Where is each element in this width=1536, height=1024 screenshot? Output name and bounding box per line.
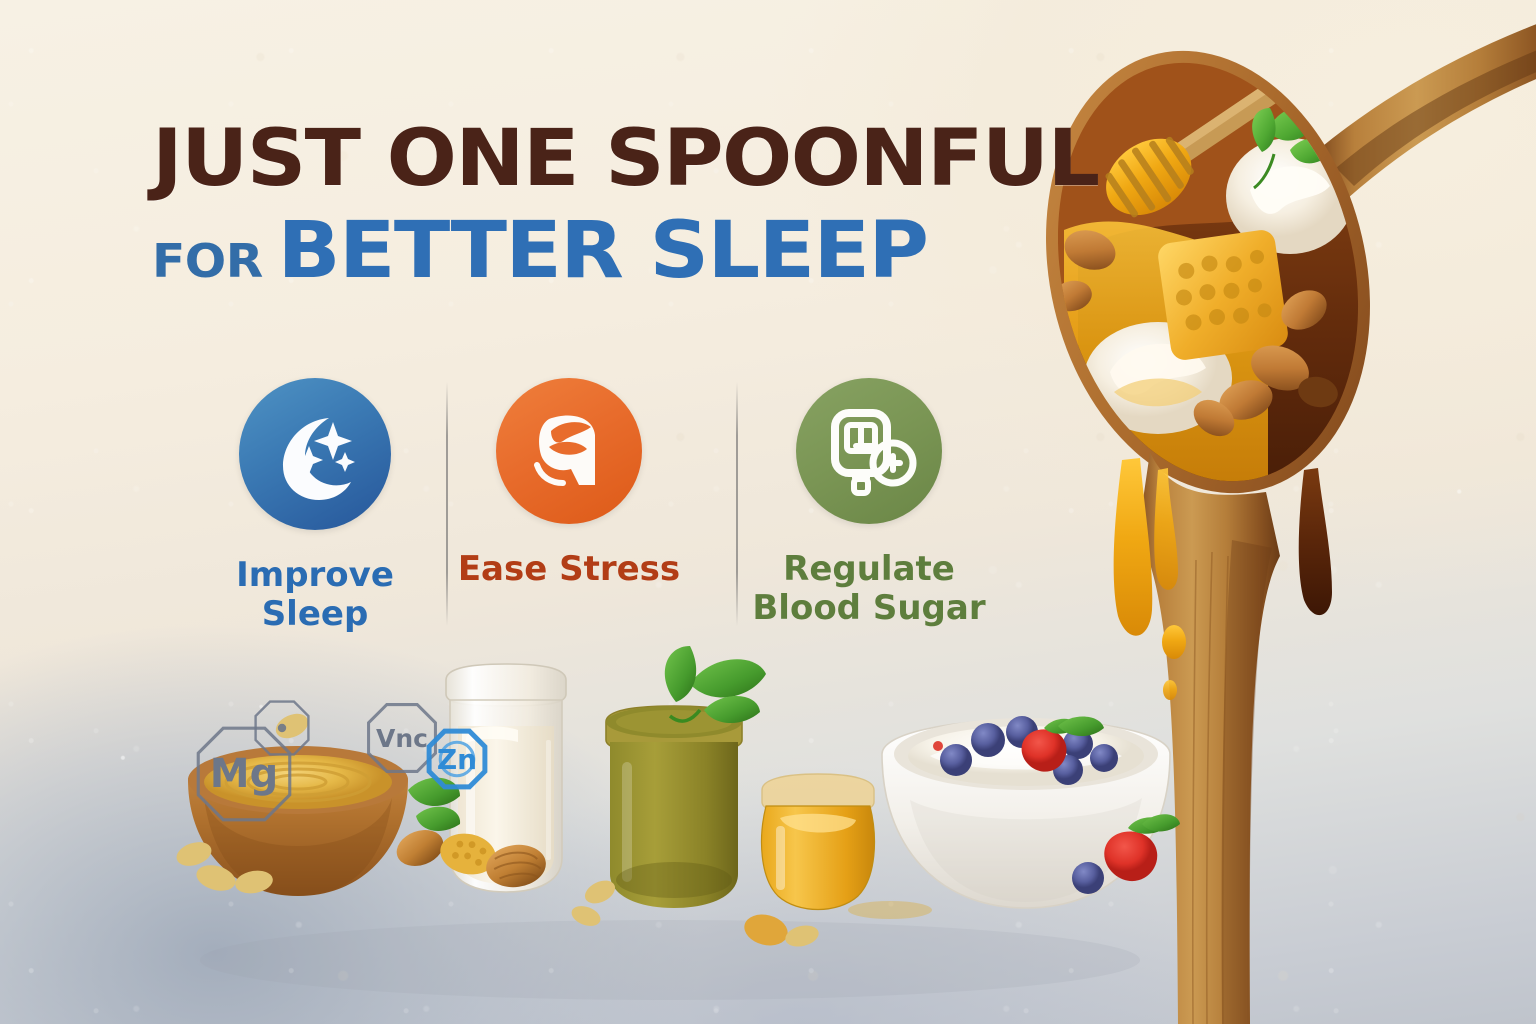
- poster-canvas: JUST ONE SPOONFUL FORBETTER SLEEP Improv…: [0, 0, 1536, 1024]
- headline-prefix-for: FOR: [152, 234, 263, 288]
- mineral-badges-group: Mg Vnc Zn: [186, 694, 506, 814]
- honeycomb-chunk: [1156, 228, 1289, 361]
- bottom-products-illustration: [170, 630, 1180, 1024]
- zinc-symbol: Zn: [437, 743, 477, 776]
- benefit-improve-sleep[interactable]: Improve Sleep: [206, 378, 424, 634]
- vnc-symbol: Vnc: [376, 724, 428, 753]
- crescent-moon-stars-icon: [239, 378, 391, 530]
- benefit-label-ease-stress: Ease Stress: [458, 550, 680, 589]
- glucometer-plus-icon: [796, 378, 942, 524]
- headline-block: JUST ONE SPOONFUL FORBETTER SLEEP: [152, 120, 1052, 290]
- benefits-row: Improve Sleep Ease Stress: [206, 378, 1036, 638]
- headline-line-2: FORBETTER SLEEP: [152, 212, 1106, 290]
- molecule-dot-hexagon-badge: [252, 698, 312, 758]
- headline-line-1: JUST ONE SPOONFUL: [152, 120, 1106, 198]
- zinc-badge: Zn: [426, 728, 488, 790]
- syrup-drip: [1299, 468, 1332, 615]
- olive-jar-paste: [606, 706, 742, 908]
- benefit-ease-stress[interactable]: Ease Stress: [424, 378, 714, 589]
- benefit-regulate-blood-sugar[interactable]: Regulate Blood Sugar: [714, 378, 1024, 628]
- head-relax-hand-icon: [496, 378, 642, 524]
- benefit-label-regulate-blood-sugar: Regulate Blood Sugar: [752, 550, 985, 628]
- benefit-label-improve-sleep: Improve Sleep: [236, 556, 394, 634]
- headline-better-sleep: BETTER SLEEP: [278, 206, 928, 296]
